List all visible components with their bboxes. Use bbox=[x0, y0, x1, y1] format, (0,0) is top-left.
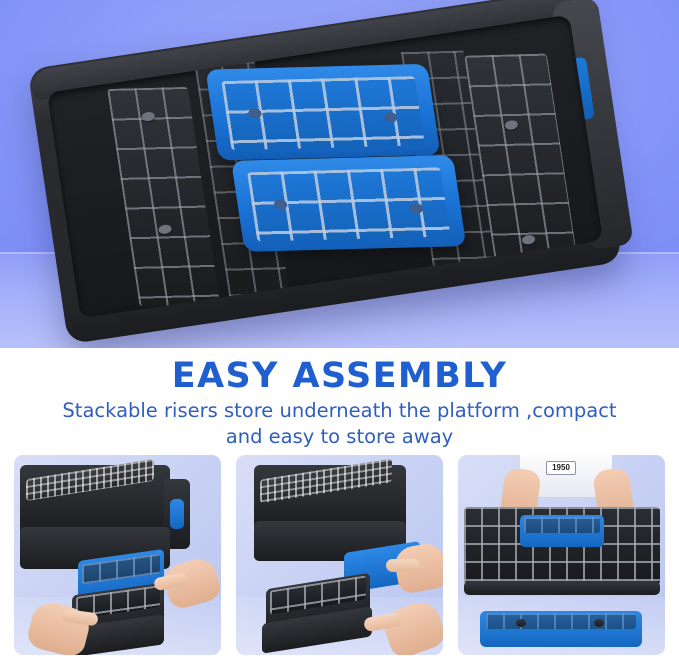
step-photo-3: 1950 bbox=[458, 455, 665, 655]
finger bbox=[386, 559, 420, 572]
subtitle-line-1: Stackable risers store underneath the pl… bbox=[62, 399, 616, 422]
blue-riser-tray-cells bbox=[486, 613, 636, 629]
step-photo-2 bbox=[236, 455, 443, 655]
platform-blue-accent bbox=[170, 499, 184, 529]
blue-riser-lower bbox=[231, 155, 466, 252]
tray-pin bbox=[516, 619, 526, 627]
shirt-tag: 1950 bbox=[546, 461, 576, 475]
tray-pin bbox=[594, 619, 604, 627]
blue-riser-upper bbox=[205, 64, 440, 161]
blue-riser-cells bbox=[524, 517, 600, 533]
step-platform bbox=[25, 0, 634, 348]
step-photo-1 bbox=[14, 455, 221, 655]
subtitle-line-2: and easy to store away bbox=[226, 425, 453, 448]
headline: EASY ASSEMBLY bbox=[0, 356, 679, 396]
platform-edge bbox=[464, 581, 660, 595]
hero-product-photo bbox=[0, 0, 679, 348]
advertisement-image: EASY ASSEMBLY Stackable risers store und… bbox=[0, 0, 679, 667]
subtitle: Stackable risers store underneath the pl… bbox=[40, 398, 639, 450]
